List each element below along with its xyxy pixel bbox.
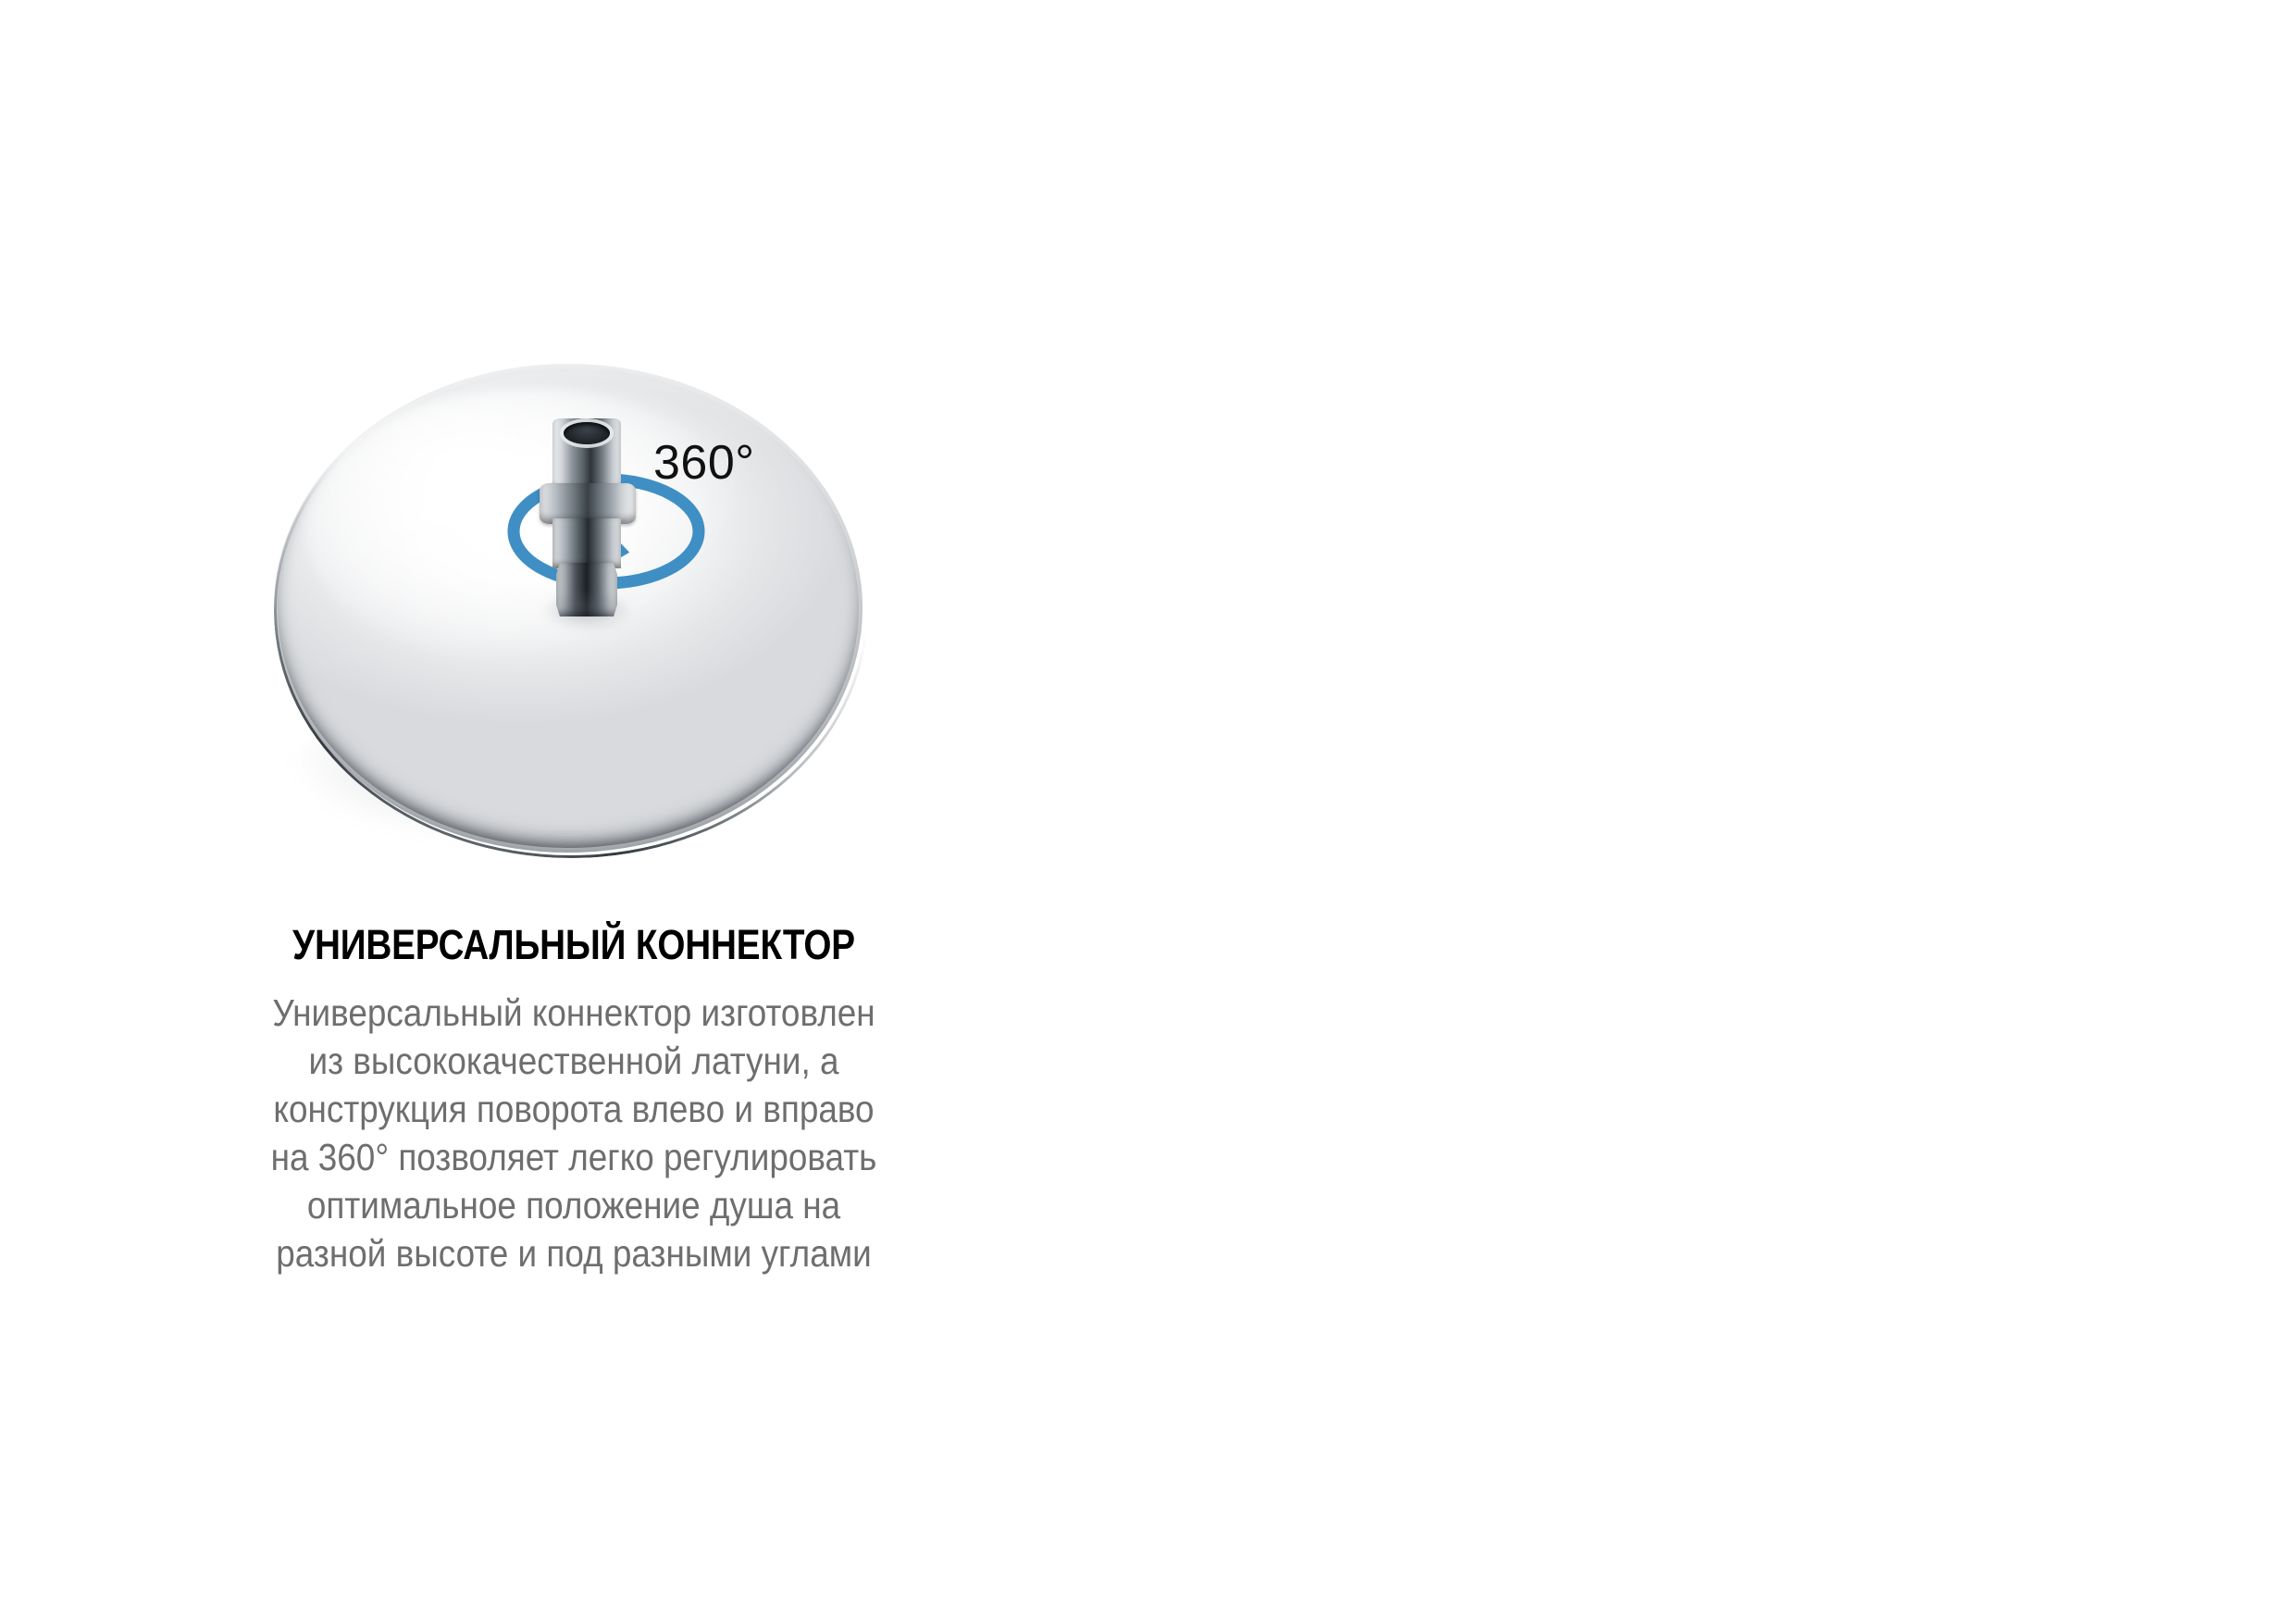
body-text-universal-connector: Универсальный коннектор изготовлен из вы… — [57, 989, 1090, 1277]
page-title-universal-connector: УНИВЕРСАЛЬНЫЙ КОННЕКТОР — [81, 921, 1067, 969]
infographic-canvas: 360° УНИВЕРСАЛЬНЫЙ КОННЕКТОР Универсальн… — [0, 0, 2296, 1619]
left-text-block: УНИВЕРСАЛЬНЫЙ КОННЕКТОР Универсальный ко… — [0, 0, 1148, 1619]
panel-universal-connector: 360° УНИВЕРСАЛЬНЫЙ КОННЕКТОР Универсальн… — [0, 0, 1148, 1619]
panel-air-injection: ВОЗДУХ ВОЗДУХ — [1148, 0, 2296, 1619]
